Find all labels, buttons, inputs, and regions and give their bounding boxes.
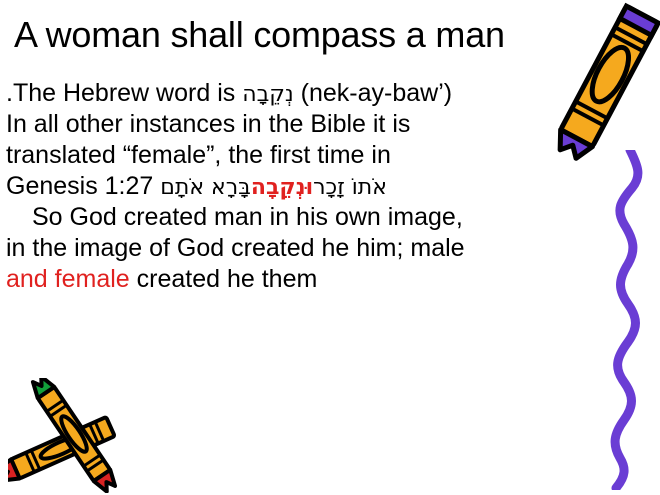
body-line-1: .The Hebrew word is נְקֵבָה (nek-ay-baw’… (6, 78, 586, 109)
slide-canvas: A woman shall compass a man .The Hebrew … (0, 0, 660, 495)
scripture-reference: Genesis 1:27 (6, 172, 160, 200)
hebrew-genesis-segment-a: בָּרָא אֹתָם (160, 175, 251, 200)
body-line-7: and female created he them (6, 264, 586, 295)
pronunciation-gloss: (nek-ay-baw’) (294, 79, 452, 107)
highlight-and-female: and female (6, 265, 130, 293)
crossed-crayons-green-red-tips-icon (8, 378, 138, 493)
hebrew-word-neqevah: נְקֵבָה (242, 82, 294, 107)
hebrew-genesis-uneqevah: וּנְקֵבָה (251, 175, 313, 200)
hebrew-genesis-segment-b: אֹתוֹ זָכָר (313, 175, 387, 200)
body-line-5: So God created man in his own image, (6, 202, 586, 233)
orange-crayon-purple-tip-icon (548, 0, 660, 164)
slide-body-text: .The Hebrew word is נְקֵבָה (nek-ay-baw’… (6, 78, 586, 295)
body-line-2: In all other instances in the Bible it i… (6, 109, 586, 140)
page-title: A woman shall compass a man (14, 14, 574, 55)
body-line-3: translated “female”, the first time in (6, 140, 586, 171)
body-line-4: Genesis 1:27 בָּרָא אֹתָםוּנְקֵבָהאֹתוֹ … (6, 171, 586, 202)
hebrew-word-intro: .The Hebrew word is (6, 79, 242, 107)
body-line-7-rest: created he them (130, 265, 318, 293)
purple-squiggle-line-icon (586, 150, 660, 490)
body-line-6: in the image of God created he him; male (6, 233, 586, 264)
